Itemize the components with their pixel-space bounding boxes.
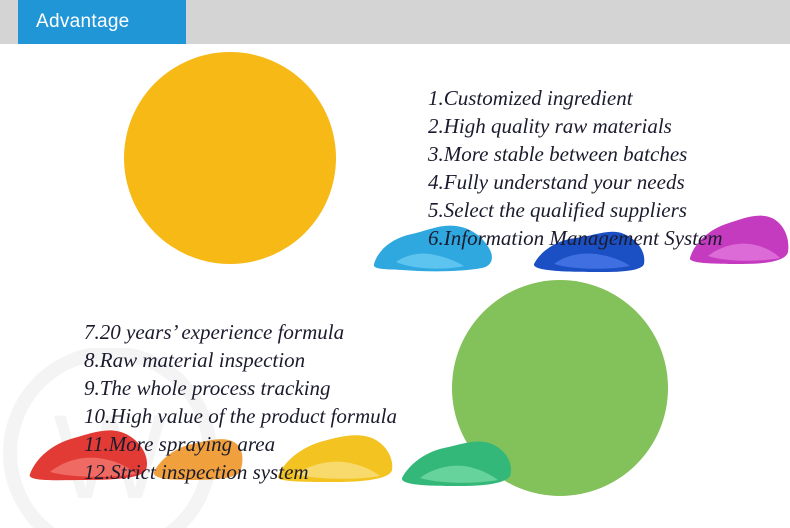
header-tab: Advantage — [18, 0, 186, 44]
list-item: 5.Select the qualified suppliers — [428, 196, 723, 224]
list-item: 8.Raw material inspection — [84, 346, 397, 374]
advantages-list-top: 1.Customized ingredient 2.High quality r… — [428, 84, 723, 252]
green-circle — [452, 280, 668, 496]
list-item: 12.Strict inspection system — [84, 458, 397, 486]
slide-canvas: Advantage W 1.Customized ingredient — [0, 0, 790, 528]
header-tab-label: Advantage — [36, 11, 130, 33]
yellow-circle — [124, 52, 336, 264]
list-item: 7.20 years’ experience formula — [84, 318, 397, 346]
list-item: 6.Information Management System — [428, 224, 723, 252]
list-item: 1.Customized ingredient — [428, 84, 723, 112]
list-item: 10.High value of the product formula — [84, 402, 397, 430]
list-item: 9.The whole process tracking — [84, 374, 397, 402]
list-item: 4.Fully understand your needs — [428, 168, 723, 196]
list-item: 2.High quality raw materials — [428, 112, 723, 140]
list-item: 3.More stable between batches — [428, 140, 723, 168]
advantages-list-bottom: 7.20 years’ experience formula 8.Raw mat… — [84, 318, 397, 486]
list-item: 11.More spraying area — [84, 430, 397, 458]
